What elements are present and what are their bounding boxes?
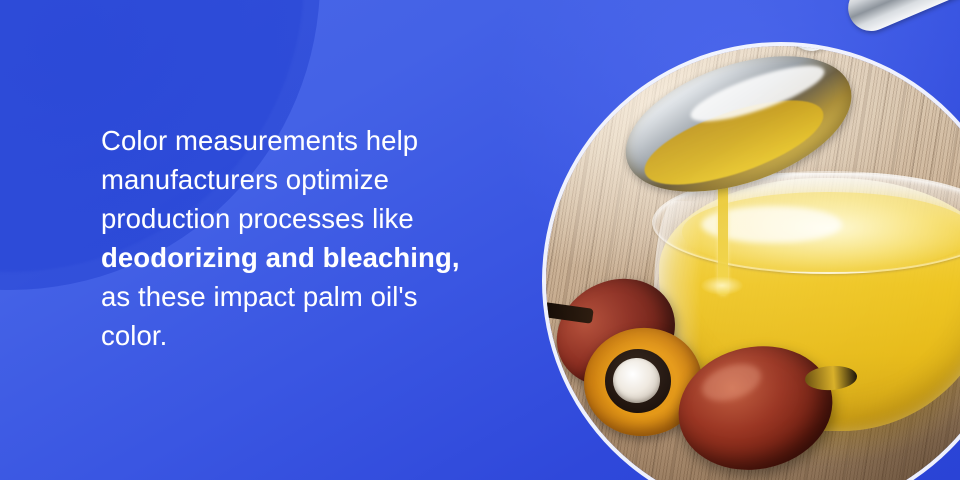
copy-line-4: as these <box>101 281 206 312</box>
banner-copy: Color measurements help manufacturers op… <box>101 121 471 355</box>
copy-emphasis: deodorizing and bleaching, <box>101 242 460 273</box>
palm-oil-photo <box>546 46 960 480</box>
copy-line-2: manufacturers optimize <box>101 164 389 195</box>
photo-content <box>546 46 960 480</box>
spoon-handle-outside-circle <box>841 0 960 38</box>
copy-line-1: Color measurements help <box>101 125 418 156</box>
palm-kernel <box>613 358 660 403</box>
copy-line-3: production processes like <box>101 203 414 234</box>
palm-oil-banner: Color measurements help manufacturers op… <box>0 0 960 480</box>
